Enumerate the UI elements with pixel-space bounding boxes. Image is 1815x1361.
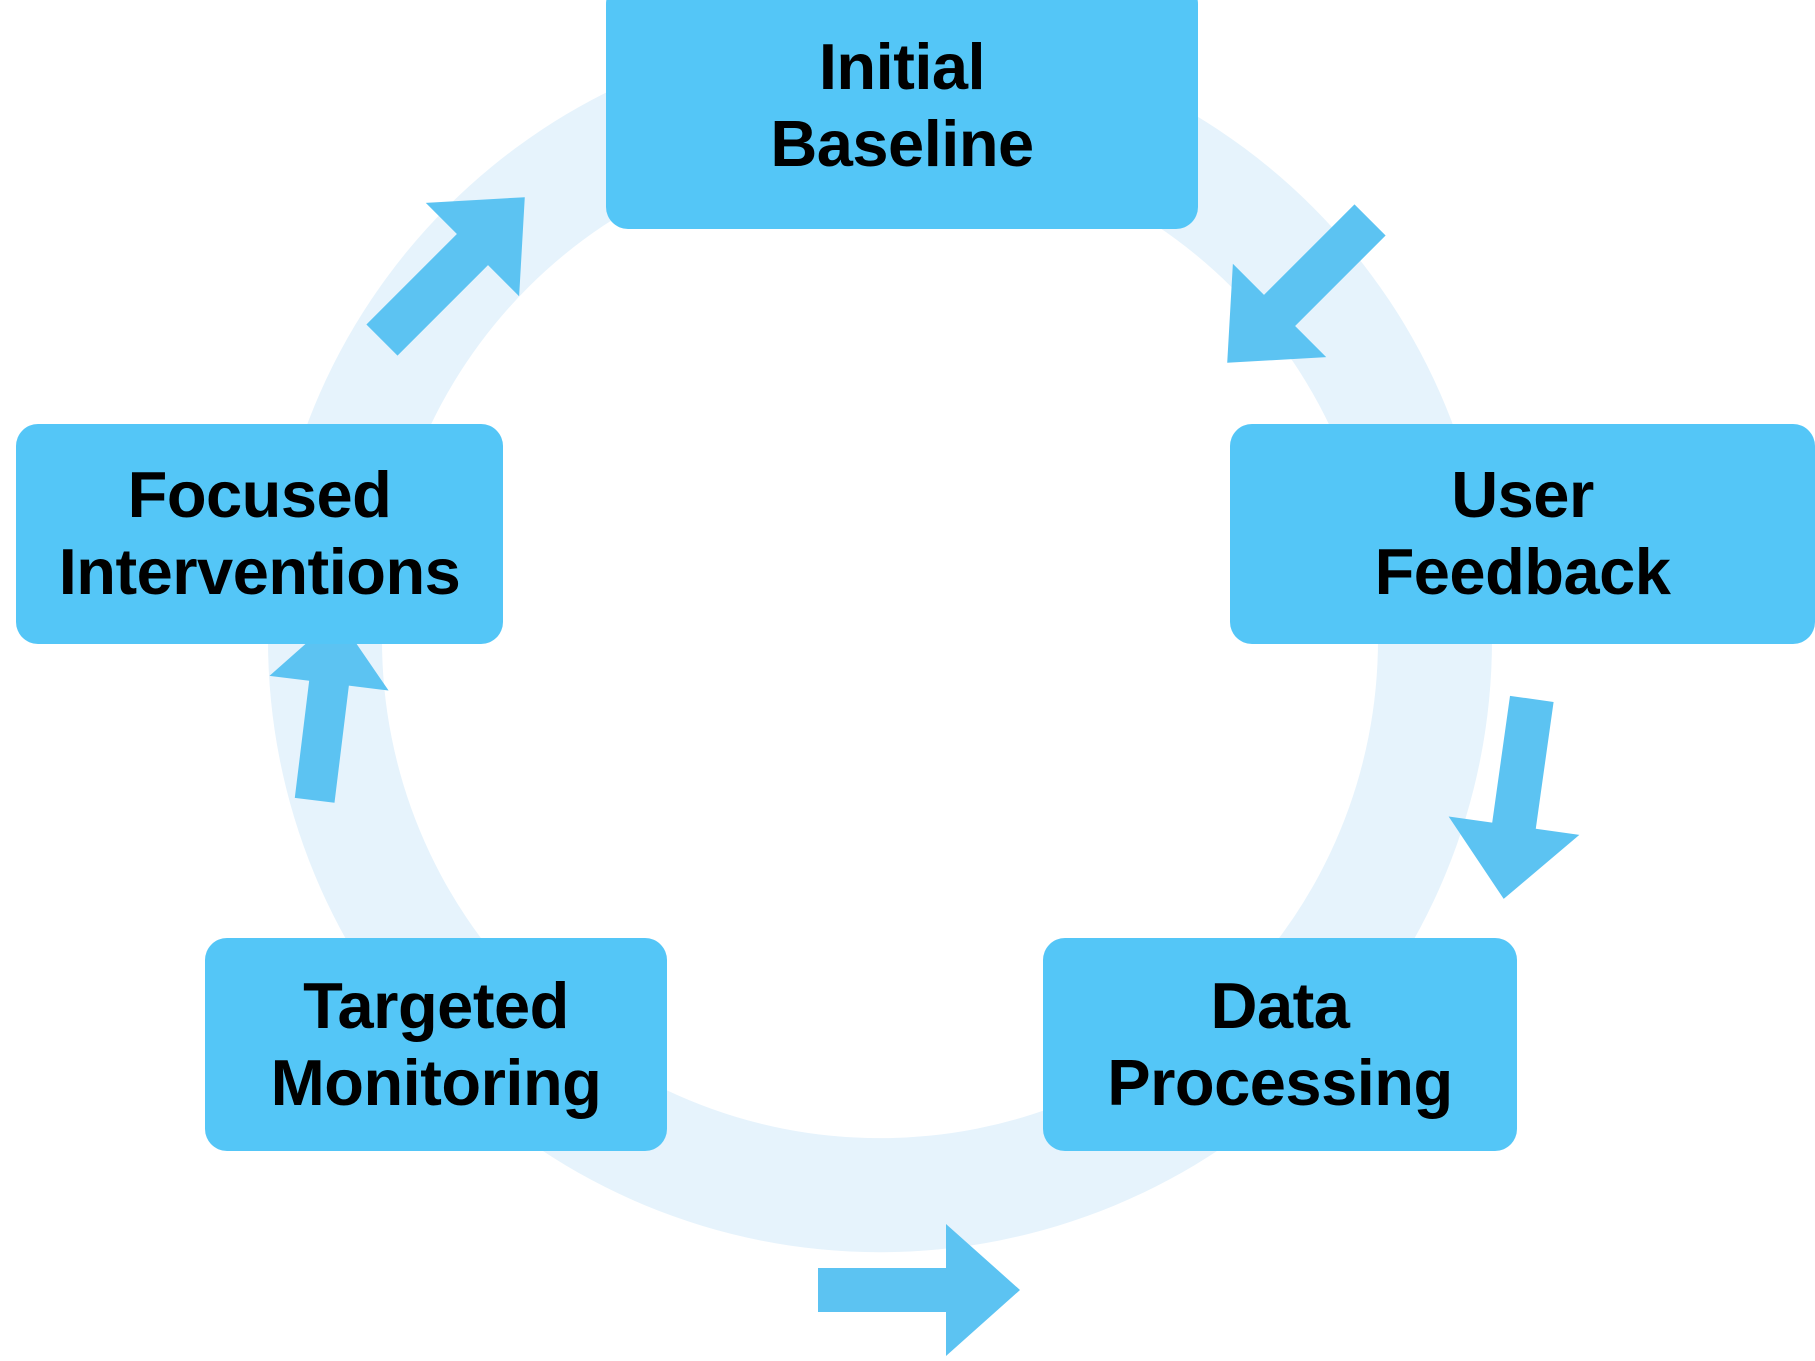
node-data-processing-label: Data Processing [1107, 968, 1452, 1121]
node-focused-interventions[interactable]: Focused Interventions [16, 424, 503, 644]
node-user-feedback[interactable]: User Feedback [1230, 424, 1815, 644]
node-user-feedback-label: User Feedback [1375, 457, 1671, 610]
node-targeted-monitoring[interactable]: Targeted Monitoring [205, 938, 667, 1151]
node-data-processing[interactable]: Data Processing [1043, 938, 1517, 1151]
node-focused-interventions-label: Focused Interventions [59, 457, 461, 610]
node-initial-baseline[interactable]: Initial Baseline [606, 0, 1198, 229]
node-initial-baseline-label: Initial Baseline [770, 29, 1033, 182]
diagram-canvas: Initial Baseline User Feedback Data Proc… [0, 0, 1815, 1361]
node-targeted-monitoring-label: Targeted Monitoring [271, 968, 602, 1121]
